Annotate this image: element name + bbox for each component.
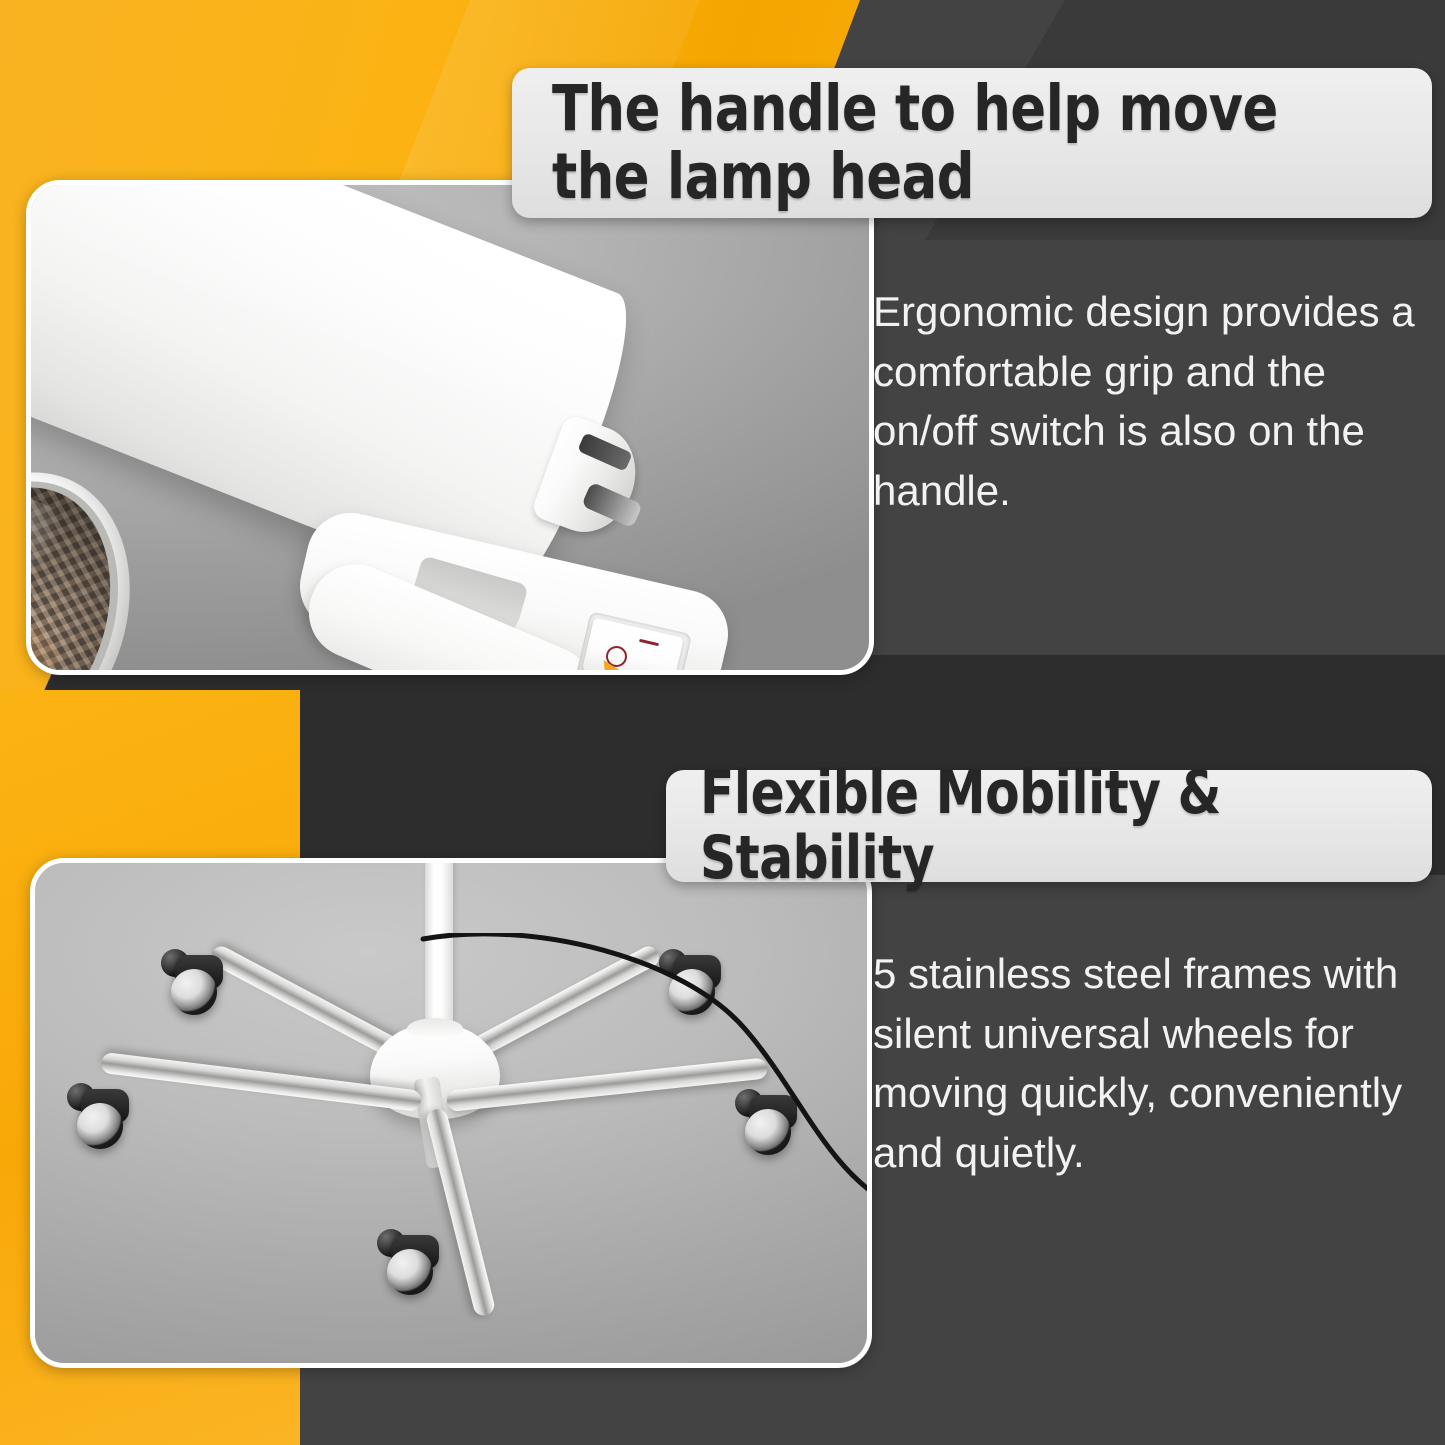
heading-text-mobility: Flexible Mobility & Stability (700, 761, 1349, 891)
caster-tyre (77, 1103, 123, 1149)
caster-wheel-back-right (665, 951, 729, 1011)
body-text-mobility: 5 stainless steel frames with silent uni… (873, 944, 1433, 1183)
caster-tyre (745, 1109, 791, 1155)
photo-lamp-head: Switch (31, 185, 869, 670)
caster-wheel-front (383, 1231, 447, 1291)
infographic-poster: Switch (0, 0, 1445, 1445)
photo-card-lamp-head: Switch (26, 180, 874, 675)
caster-tyre (387, 1249, 433, 1295)
photo-rolling-base (35, 863, 867, 1363)
body-text-handle: Ergonomic design provides a comfortable … (873, 282, 1419, 521)
heading-banner-handle: The handle to help move the lamp head (512, 68, 1432, 218)
heading-banner-mobility: Flexible Mobility & Stability (666, 770, 1432, 882)
caster-wheel-right (741, 1091, 805, 1151)
caster-wheel-back-left (167, 951, 231, 1011)
caster-wheel-left (73, 1085, 137, 1145)
caster-tyre (171, 969, 217, 1015)
base-hub-collar (407, 1018, 463, 1040)
caster-tyre (669, 969, 715, 1015)
photo-card-rolling-base (30, 858, 872, 1368)
heading-text-handle: The handle to help move the lamp head (552, 75, 1333, 211)
